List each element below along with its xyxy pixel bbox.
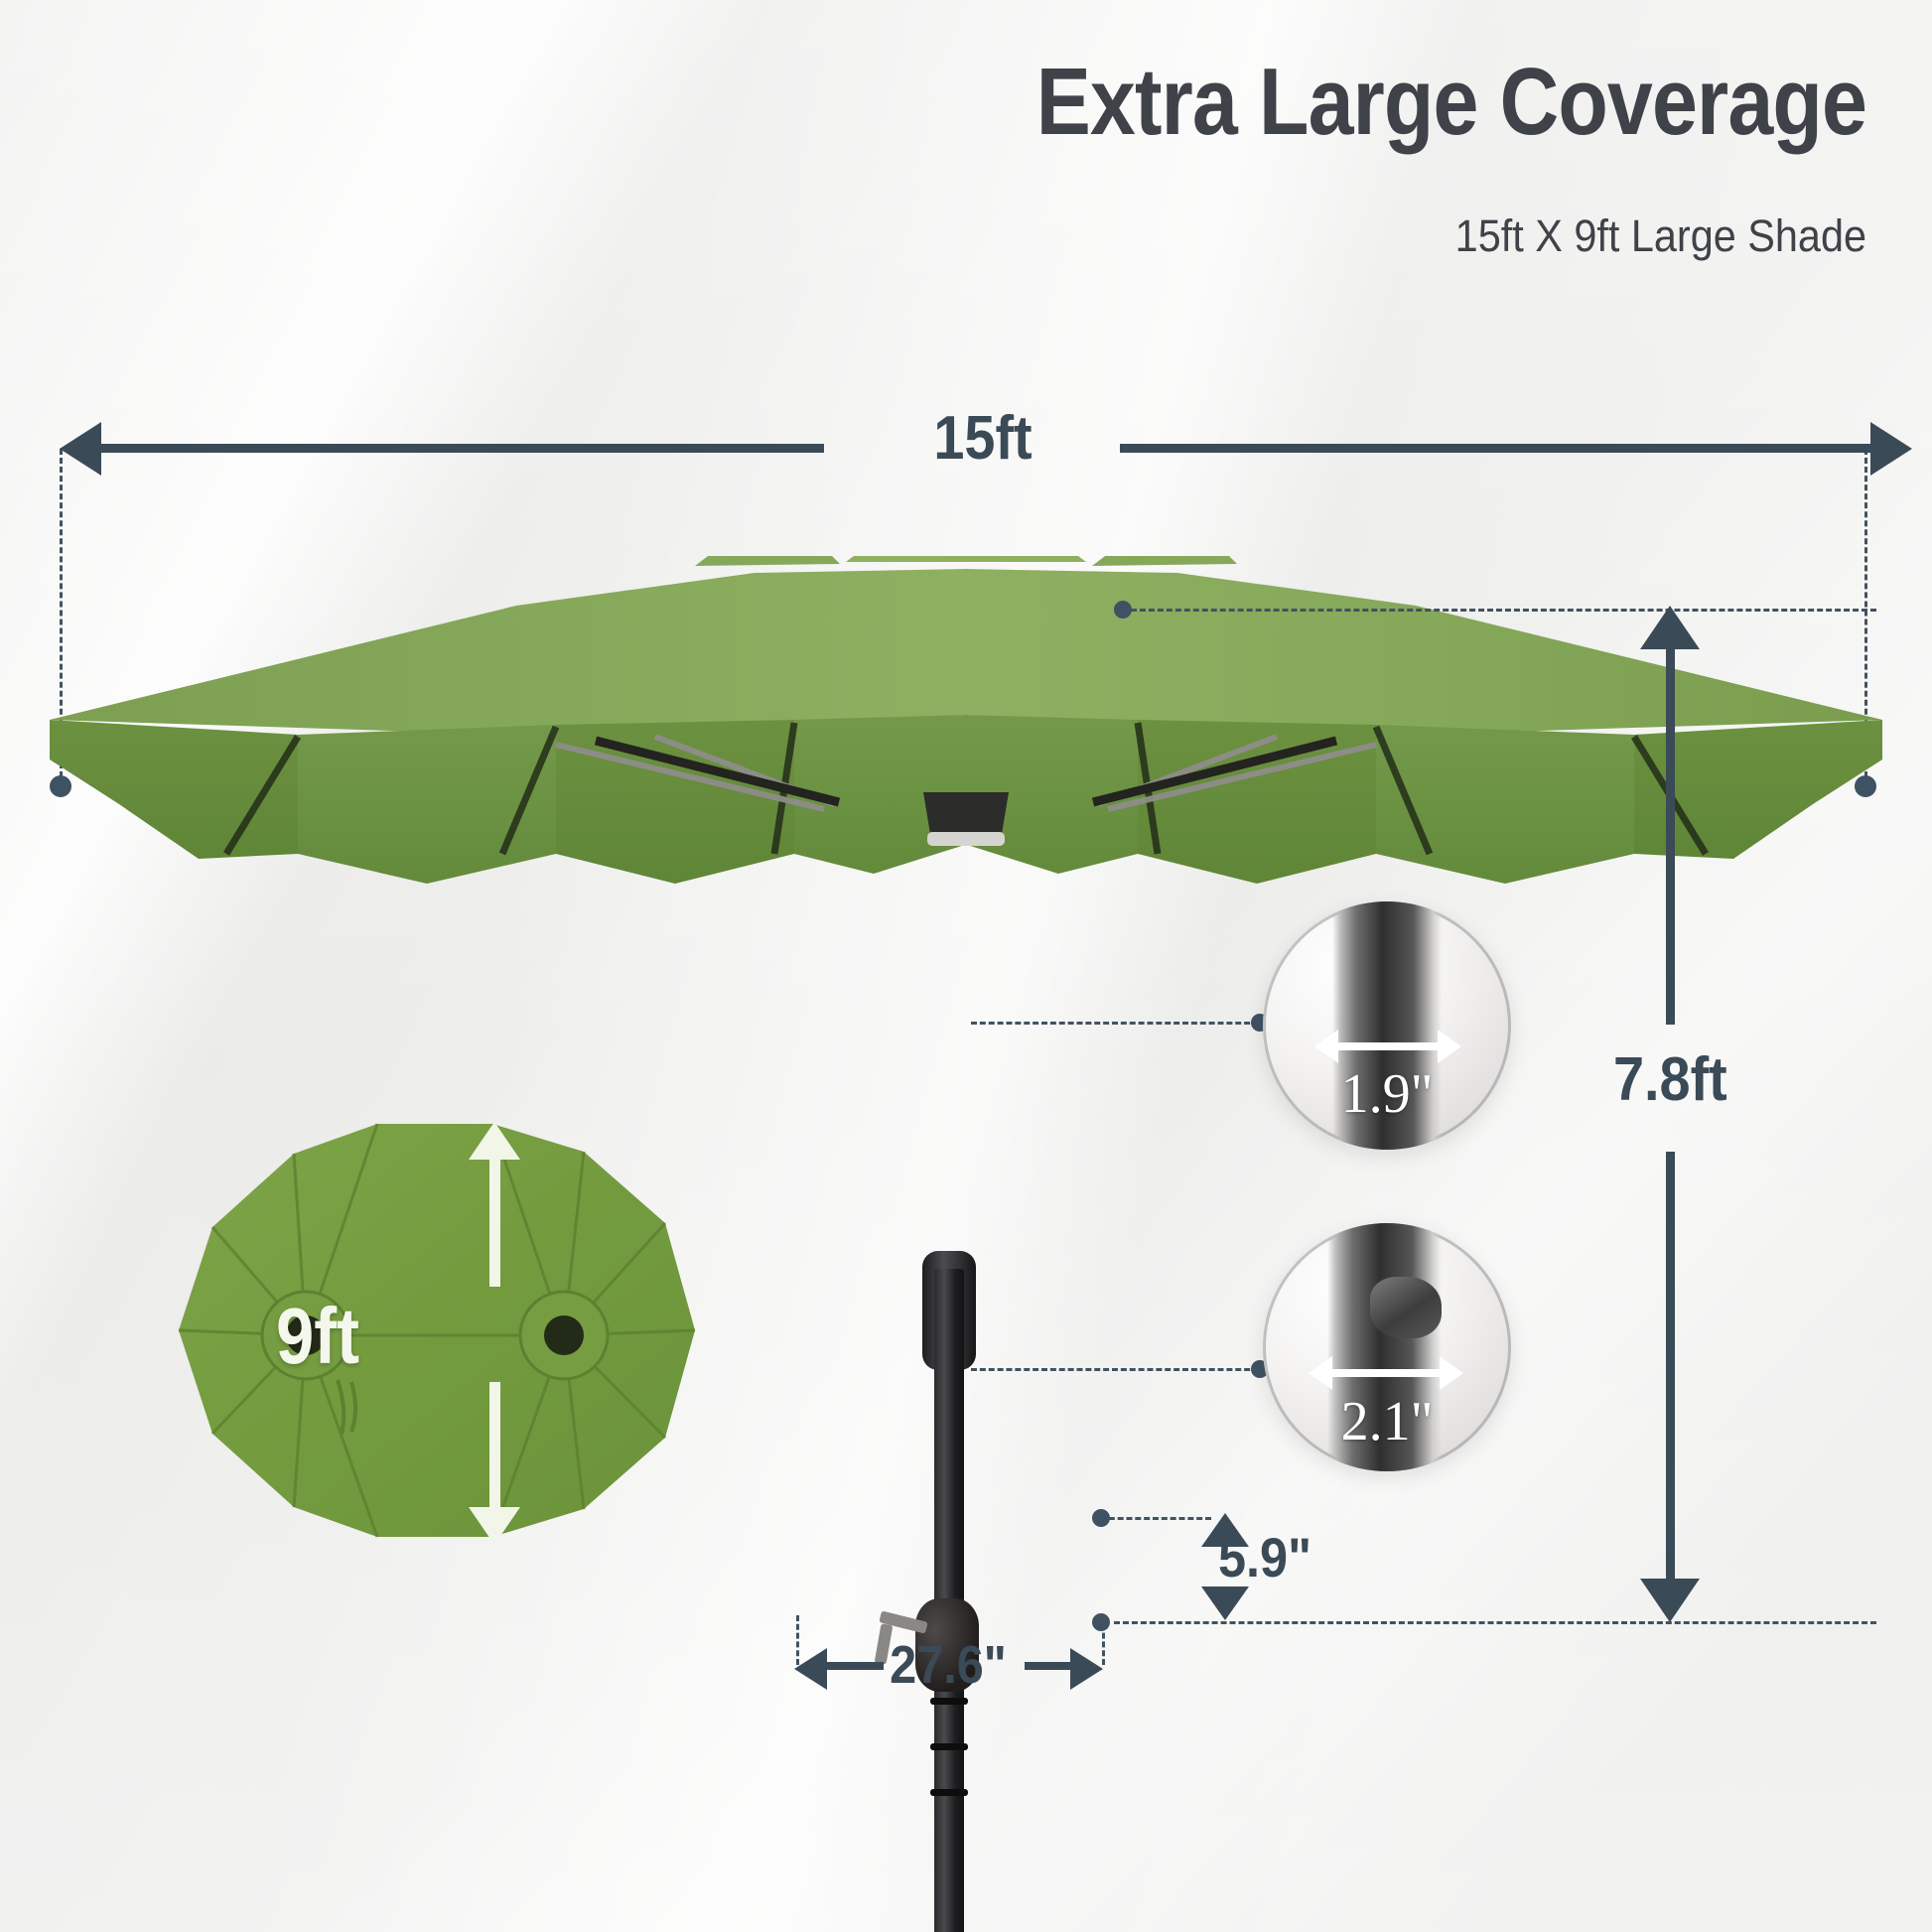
pole-joint-mid [930, 1743, 968, 1750]
measurement-label-width: 15ft [885, 403, 1081, 474]
base-height-arrowhead-bottom [1201, 1587, 1249, 1620]
base-height-anchor-dot-bottom [1092, 1613, 1110, 1631]
height-arrowhead-top [1640, 606, 1700, 649]
zoom-arrowhead-right-lower [1440, 1356, 1463, 1390]
zoom-arrow-line-lower [1328, 1369, 1444, 1377]
depth-arrowhead-bottom [469, 1507, 520, 1545]
depth-arrowhead-top [469, 1122, 520, 1160]
infographic-canvas: Extra Large Coverage 15ft X 9ft Large Sh… [0, 0, 1932, 1932]
width-line-right [1120, 444, 1872, 453]
measurement-label-base-height: 5.9" [1140, 1525, 1390, 1589]
base-width-arrowhead-right [1070, 1648, 1103, 1690]
lower-pole-leader-line [971, 1368, 1259, 1371]
upper-pole-zoom-bubble: 1.9" [1263, 901, 1511, 1150]
depth-line-lower [489, 1382, 500, 1509]
base-width-arrowhead-left [794, 1648, 827, 1690]
width-arrowhead-left [60, 422, 101, 476]
depth-line-upper [489, 1158, 500, 1287]
base-height-leader-top [1100, 1517, 1211, 1520]
base-height-anchor-dot-top [1092, 1509, 1110, 1527]
height-line-upper [1666, 647, 1675, 1025]
page-subtitle: 15ft X 9ft Large Shade [149, 210, 1866, 262]
measurement-label-depth: 9ft [45, 1291, 591, 1382]
zoom-arrow-line-upper [1334, 1042, 1442, 1050]
measurement-label-lower-pole: 2.1" [1263, 1390, 1511, 1453]
height-anchor-dot-top [1114, 601, 1132, 619]
height-line-lower [1666, 1152, 1675, 1581]
zoom-arrowhead-right-upper [1438, 1030, 1461, 1063]
pole-joint-upper [930, 1698, 968, 1705]
measurement-label-height: 7.8ft [1613, 1044, 1881, 1115]
height-extension-top [1122, 609, 1876, 612]
page-title: Extra Large Coverage [261, 52, 1866, 153]
upper-pole-leader-line [971, 1022, 1259, 1025]
base-width-line-right [1025, 1662, 1070, 1670]
measurement-label-base-width: 27.6" [873, 1634, 1025, 1696]
zoom-crank-knob [1370, 1277, 1442, 1338]
lower-pole-zoom-bubble: 2.1" [1263, 1223, 1511, 1471]
height-arrowhead-bottom [1640, 1579, 1700, 1622]
pole-joint-lower [930, 1789, 968, 1796]
height-extension-bottom [1114, 1621, 1876, 1624]
width-arrowhead-right [1870, 422, 1912, 476]
width-line-left [99, 444, 824, 453]
measurement-label-upper-pole: 1.9" [1263, 1062, 1511, 1126]
